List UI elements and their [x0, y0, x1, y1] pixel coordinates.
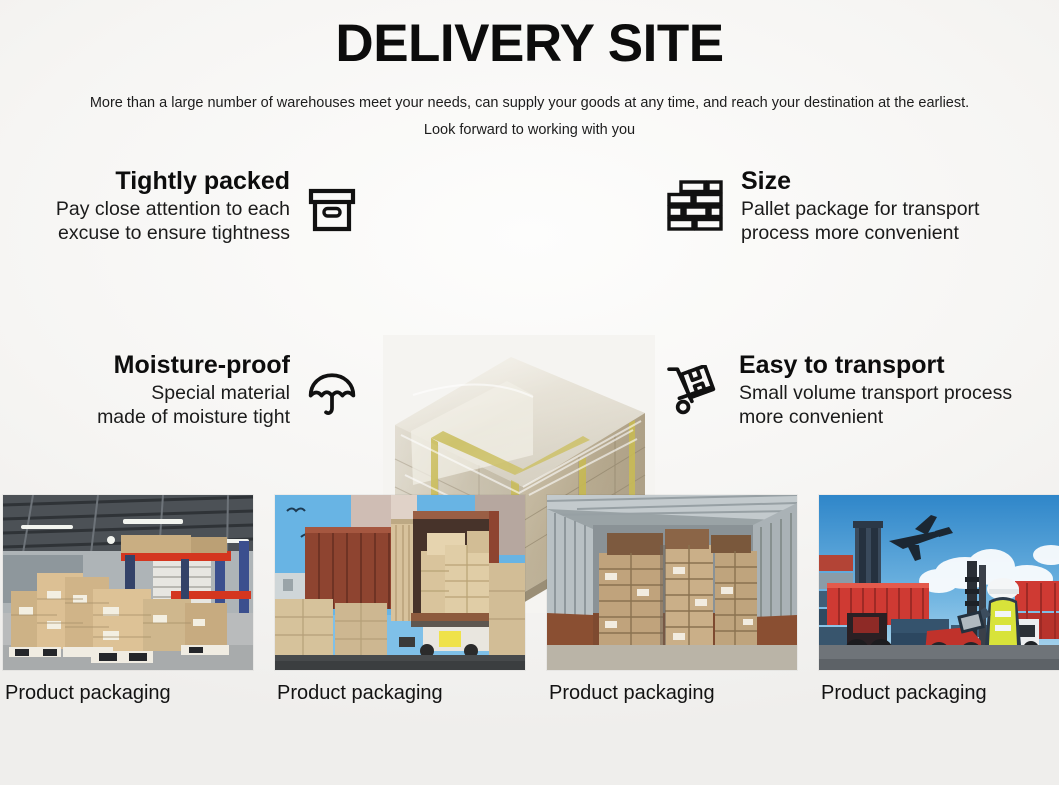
umbrella-icon	[304, 365, 360, 423]
feature-heading: Tightly packed	[56, 167, 290, 195]
feature-description-line-1: Pay close attention to each	[56, 198, 290, 222]
feature-text: Moisture-proof Special material made of …	[97, 351, 290, 430]
delivery-site-page: DELIVERY SITE More than a large number o…	[0, 0, 1059, 785]
packing-thumbnail-item[interactable]: Product packaging	[819, 495, 1059, 704]
subtitle-line-1: More than a large number of warehouses m…	[50, 90, 1010, 118]
archive-box-icon	[304, 181, 360, 239]
feature-easy-to-transport: Easy to transport Small volume transport…	[667, 351, 1059, 430]
packing-thumbnail-item[interactable]: Product packaging	[3, 495, 253, 704]
brick-wall-icon	[667, 177, 723, 235]
feature-description-line-1: Special material	[97, 382, 290, 406]
feature-text: Tightly packed Pay close attention to ea…	[56, 167, 290, 246]
feature-moisture-proof: Moisture-proof Special material made of …	[0, 351, 360, 430]
feature-description-line-2: made of moisture tight	[97, 406, 290, 430]
thumbnail-caption: Product packaging	[3, 670, 253, 704]
feature-heading: Moisture-proof	[97, 351, 290, 379]
thumbnail-caption: Product packaging	[275, 670, 525, 704]
thumbnail-caption: Product packaging	[547, 670, 797, 704]
feature-heading: Size	[741, 167, 979, 195]
container-interior-photo[interactable]	[547, 495, 797, 670]
page-header: DELIVERY SITE More than a large number o…	[0, 0, 1059, 145]
page-title: DELIVERY SITE	[0, 16, 1059, 72]
hand-truck-icon	[667, 363, 723, 421]
feature-size: Size Pallet package for transport proces…	[667, 167, 1059, 246]
feature-text: Easy to transport Small volume transport…	[739, 351, 1012, 430]
warehouse-interior-photo[interactable]	[3, 495, 253, 670]
packing-thumbnail-item[interactable]: Product packaging	[547, 495, 797, 704]
features-section: Tightly packed Pay close attention to ea…	[0, 159, 1059, 459]
container-loading-photo[interactable]	[275, 495, 525, 670]
feature-description-line-2: more convenient	[739, 406, 1012, 430]
feature-description-line-1: Small volume transport process	[739, 382, 1012, 406]
packing-thumbnail-item[interactable]: Product packaging	[275, 495, 525, 704]
feature-text: Size Pallet package for transport proces…	[741, 167, 979, 246]
port-logistics-photo[interactable]	[819, 495, 1059, 670]
thumbnail-caption: Product packaging	[819, 670, 1059, 704]
feature-description-line-2: excuse to ensure tightness	[56, 222, 290, 246]
page-subtitle: More than a large number of warehouses m…	[50, 90, 1010, 145]
feature-description-line-1: Pallet package for transport	[741, 198, 979, 222]
feature-tightly-packed: Tightly packed Pay close attention to ea…	[0, 167, 360, 246]
subtitle-line-2: Look forward to working with you	[50, 117, 1010, 145]
feature-description-line-2: process more convenient	[741, 222, 979, 246]
feature-heading: Easy to transport	[739, 351, 1012, 379]
